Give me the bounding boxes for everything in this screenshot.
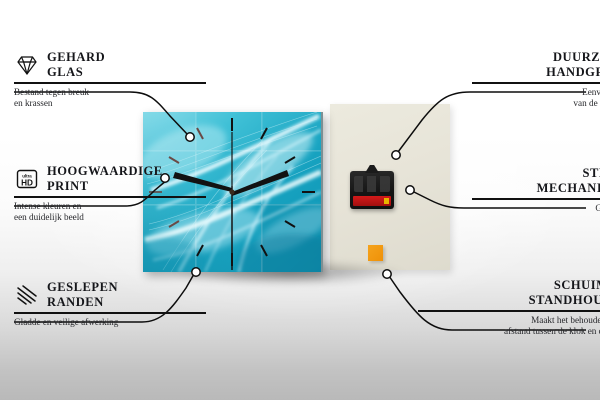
feature-description: Gladde en veilige afwerking	[14, 317, 206, 328]
feature-header: STILLEMECHANISME	[472, 166, 600, 195]
feature-title-line1: DUURZAME	[553, 50, 600, 64]
feature-header: GESLEPENRANDEN	[14, 280, 206, 309]
foam-spacer-pad	[368, 245, 383, 261]
feature-description: Intense kleuren eneen duidelijk beeld	[14, 201, 206, 224]
feature-title: STILLEMECHANISME	[537, 166, 600, 195]
feature-title: SCHUIMAF-STANDHOUDER	[529, 278, 600, 307]
feature-title-line2: HANDGREEP	[546, 65, 600, 79]
clock-mechanism-box	[350, 171, 394, 209]
mechanism-detail	[354, 176, 390, 192]
feature-header: ultra HD HOOGWAARDIGEPRINT	[14, 164, 206, 193]
feature-title: GEHARDGLAS	[47, 50, 105, 79]
feature-title-line2: MECHANISME	[537, 181, 600, 195]
feature-title-line1: SCHUIMAF-	[554, 278, 600, 292]
feature-divider	[472, 198, 600, 200]
feature-title: HOOGWAARDIGEPRINT	[47, 164, 163, 193]
feature-geslepen-randen: GESLEPENRANDEN Gladde en veilige afwerki…	[14, 280, 206, 328]
feature-title: GESLEPENRANDEN	[47, 280, 118, 309]
battery	[353, 196, 391, 206]
feature-divider	[14, 196, 206, 198]
feature-header: DUURZAMEHANDGREEP	[472, 50, 600, 79]
feature-hoogwaardige-print: ultra HD HOOGWAARDIGEPRINT Intense kleur…	[14, 164, 206, 223]
feature-description: Bestand tegen breuken krassen	[14, 87, 206, 110]
badge-large-label: HD	[21, 178, 33, 187]
feature-header: GEHARDGLAS	[14, 50, 206, 79]
feature-title-line1: GESLEPEN	[47, 280, 118, 294]
feature-title-line2: RANDEN	[47, 295, 104, 309]
ultra-hd-badge-icon: ultra HD	[14, 166, 40, 192]
feature-title-line1: GEHARD	[47, 50, 105, 64]
feature-title: DUURZAMEHANDGREEP	[546, 50, 600, 79]
feature-description: Eenvoudige installatievan de klok aan de…	[472, 87, 600, 110]
diamond-icon	[14, 52, 40, 78]
infographic-canvas: GEHARDGLAS Bestand tegen breuken krassen…	[0, 0, 600, 400]
feature-duurzame-handgreep: DUURZAMEHANDGREEP Eenvoudige installatie…	[472, 50, 600, 109]
feature-divider	[472, 82, 600, 84]
feature-divider	[14, 82, 206, 84]
feature-title-line2: STANDHOUDER	[529, 293, 600, 307]
feature-schuimaf-standhouder: SCHUIMAF-STANDHOUDER Maakt het behouden …	[418, 278, 600, 337]
feature-header: SCHUIMAF-STANDHOUDER	[418, 278, 600, 307]
feature-description: Maakt het behouden van een gelijkeafstan…	[418, 315, 600, 338]
feature-divider	[14, 312, 206, 314]
feature-title-line1: STILLE	[583, 166, 600, 180]
feature-divider	[418, 310, 600, 312]
feature-gehard-glas: GEHARDGLAS Bestand tegen breuken krassen	[14, 50, 206, 109]
feature-title-line1: HOOGWAARDIGE	[47, 164, 163, 178]
feature-stille-mechanisme: STILLEMECHANISME Geruisloze wijzersvan d…	[472, 166, 600, 225]
feature-title-line2: GLAS	[47, 65, 83, 79]
beveled-edges-icon	[14, 282, 40, 308]
feature-description: Geruisloze wijzersvan de klok	[472, 203, 600, 226]
feature-title-line2: PRINT	[47, 179, 89, 193]
